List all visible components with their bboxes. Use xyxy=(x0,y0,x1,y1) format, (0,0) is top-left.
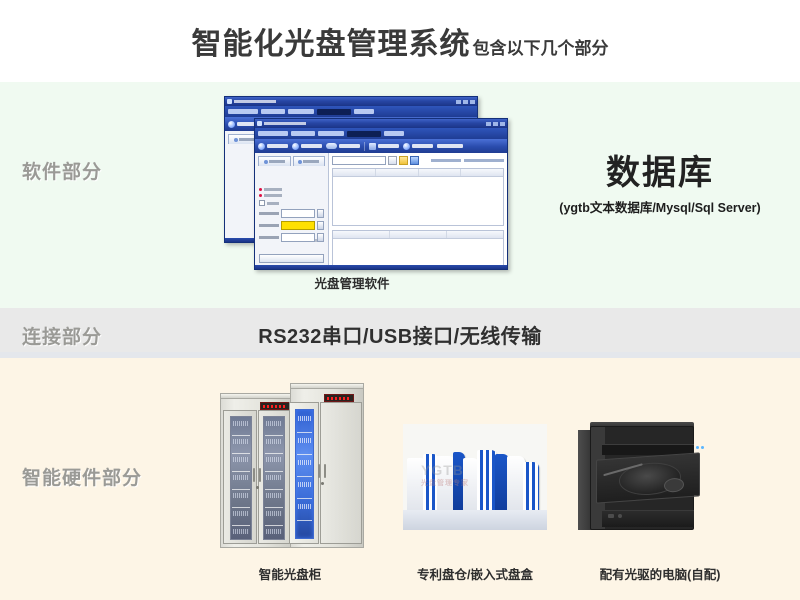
disc-cabinet-photo xyxy=(214,378,366,548)
cabinet-handle[interactable] xyxy=(259,468,261,482)
toolbar-button-label xyxy=(267,144,288,148)
minimize-icon[interactable] xyxy=(486,122,491,126)
menu-item[interactable] xyxy=(258,131,288,136)
search-button[interactable] xyxy=(388,156,397,165)
cabinet-lock-icon[interactable] xyxy=(321,482,324,485)
radio-option[interactable] xyxy=(259,188,324,191)
column-header[interactable] xyxy=(461,169,503,176)
caption-tray: 专利盘仓/嵌入式盘盒 xyxy=(390,564,560,583)
disc-icon xyxy=(326,143,337,149)
status-text xyxy=(431,159,461,162)
toolbar-button-label xyxy=(339,144,360,148)
database-block: 数据库 (ygtb文本数据库/Mysql/Sql Server) xyxy=(524,156,796,216)
search-input[interactable] xyxy=(332,156,386,165)
arrow-left-icon xyxy=(228,121,235,128)
highlighted-input[interactable] xyxy=(281,221,315,230)
maximize-icon[interactable] xyxy=(463,100,468,104)
checkbox-label xyxy=(267,202,279,205)
window-title-text xyxy=(234,100,276,103)
optical-drive-tray[interactable] xyxy=(596,452,700,503)
menu-item[interactable] xyxy=(261,109,285,114)
window-controls[interactable] xyxy=(486,122,505,126)
column-header[interactable] xyxy=(447,231,503,238)
arrow-right-icon xyxy=(292,143,299,150)
toolbar-button-disc[interactable] xyxy=(326,143,360,149)
menu-item[interactable] xyxy=(384,131,404,136)
pc-status-leds xyxy=(696,446,704,449)
refresh-button[interactable] xyxy=(410,156,419,165)
maximize-icon[interactable] xyxy=(493,122,498,126)
page-title-sub: 包含以下几个部分 xyxy=(473,34,609,59)
radio-icon[interactable] xyxy=(259,188,262,191)
minimize-icon[interactable] xyxy=(456,100,461,104)
form-fields[interactable] xyxy=(259,188,324,245)
tab-disc-list[interactable] xyxy=(293,156,326,166)
tab-label xyxy=(239,138,255,141)
window-toolbar[interactable] xyxy=(255,139,508,154)
page-title-main: 智能化光盘管理系统 xyxy=(192,19,471,63)
cabinet-glass-right xyxy=(263,416,285,540)
pc-with-optical-drive-photo xyxy=(578,422,710,534)
status-text xyxy=(464,159,504,162)
toolbar-button-export[interactable] xyxy=(292,143,322,150)
tab-icon xyxy=(234,138,238,142)
browse-button[interactable] xyxy=(317,233,324,242)
window-titlebar xyxy=(225,97,477,106)
window-title-text xyxy=(264,122,306,125)
grid-rows[interactable] xyxy=(333,239,503,270)
menu-item[interactable] xyxy=(354,109,374,114)
text-input[interactable] xyxy=(281,233,315,242)
menu-item[interactable] xyxy=(228,109,258,114)
tray-base xyxy=(403,510,547,530)
menu-item[interactable] xyxy=(288,109,314,114)
toolbar-separator xyxy=(364,142,365,151)
search-icon xyxy=(403,143,410,150)
caption-software: 光盘管理软件 xyxy=(252,273,452,292)
toolbar-button-import[interactable] xyxy=(258,143,288,150)
pc-front-panel xyxy=(602,510,694,527)
led-display-icon xyxy=(260,402,290,410)
tab-icon xyxy=(264,160,268,164)
watermark-text: YGTB xyxy=(421,462,464,478)
app-icon xyxy=(227,99,232,104)
cabinet-door-closed xyxy=(320,402,362,544)
column-header[interactable] xyxy=(333,169,376,176)
form-row-1[interactable] xyxy=(259,209,324,218)
app-window-front[interactable] xyxy=(254,118,508,270)
tray-stack: YGTB 光盘管理专家 xyxy=(403,424,547,530)
cabinet-top xyxy=(220,393,296,399)
column-header[interactable] xyxy=(376,169,419,176)
menu-item-active[interactable] xyxy=(347,131,381,137)
gear-icon xyxy=(369,143,376,150)
browse-button[interactable] xyxy=(317,221,324,230)
app-icon xyxy=(257,121,262,126)
window-titlebar xyxy=(255,119,507,128)
cabinet-top xyxy=(290,383,364,389)
toolbar-button-help[interactable] xyxy=(437,144,463,148)
caption-cabinet: 智能光盘柜 xyxy=(200,564,380,583)
watermark-subtext: 光盘管理专家 xyxy=(421,478,469,488)
window-menubar[interactable] xyxy=(225,106,478,117)
toolbar-button-label xyxy=(301,144,322,148)
radio-label xyxy=(264,188,282,191)
window-body xyxy=(255,153,507,269)
tab-disc-info[interactable] xyxy=(258,156,291,166)
tab-label xyxy=(269,160,285,163)
watermark: YGTB 光盘管理专家 xyxy=(421,462,469,488)
form-row-3[interactable] xyxy=(259,233,324,242)
page-header: 智能化光盘管理系统 包含以下几个部分 xyxy=(0,0,800,84)
connection-text: RS232串口/USB接口/无线传输 xyxy=(230,320,570,349)
page-title: 智能化光盘管理系统 包含以下几个部分 xyxy=(192,19,609,63)
data-grid-top[interactable] xyxy=(332,168,504,226)
cabinet-door-right xyxy=(258,410,292,544)
arrow-left-icon xyxy=(258,143,265,150)
left-pane xyxy=(255,153,329,269)
field-label xyxy=(259,212,279,215)
data-grid-bottom[interactable] xyxy=(332,230,504,270)
cabinet-handle[interactable] xyxy=(253,468,255,482)
power-button[interactable] xyxy=(608,514,614,518)
menu-item-active[interactable] xyxy=(317,109,351,115)
database-subtitle: (ygtb文本数据库/Mysql/Sql Server) xyxy=(524,197,796,216)
menu-item[interactable] xyxy=(318,131,344,136)
toolbar-button-label xyxy=(412,144,433,148)
cabinet-handle[interactable] xyxy=(324,464,326,478)
field-label xyxy=(259,224,279,227)
row-label-software: 软件部分 xyxy=(22,157,102,184)
close-icon[interactable] xyxy=(500,122,505,126)
poster-root: 智能化光盘管理系统 包含以下几个部分 软件部分 连接部分 智能硬件部分 xyxy=(0,0,800,600)
row-label-connection: 连接部分 xyxy=(22,322,102,349)
filter-button[interactable] xyxy=(399,156,408,165)
reset-button[interactable] xyxy=(618,514,622,518)
submit-button[interactable] xyxy=(259,254,324,263)
checkbox-option[interactable] xyxy=(259,200,324,206)
status-info xyxy=(431,159,504,162)
cabinet-handle[interactable] xyxy=(318,464,320,478)
field-label xyxy=(259,236,279,239)
browse-button[interactable] xyxy=(317,209,324,218)
column-header[interactable] xyxy=(419,169,462,176)
cabinet-door-left xyxy=(223,410,257,544)
cabinet-lock-icon[interactable] xyxy=(256,486,259,489)
toolbar-button-label xyxy=(378,144,399,148)
activity-led-icon xyxy=(701,446,704,449)
right-pane xyxy=(329,153,507,269)
text-input[interactable] xyxy=(281,209,315,218)
window-controls[interactable] xyxy=(456,100,475,104)
led-display-icon xyxy=(324,394,354,402)
power-led-icon xyxy=(696,446,699,449)
software-screenshots xyxy=(224,96,520,268)
toolbar-button-label xyxy=(437,144,463,148)
disc-hub xyxy=(664,477,684,492)
form-row-2[interactable] xyxy=(259,221,324,230)
cabinet-door-open xyxy=(289,402,319,544)
tab-icon xyxy=(298,160,302,164)
column-header[interactable] xyxy=(390,231,447,238)
toolbar-button-search[interactable] xyxy=(403,143,433,150)
window-menubar[interactable] xyxy=(255,128,508,139)
search-bar[interactable] xyxy=(332,156,504,165)
tab-label xyxy=(303,160,319,163)
disc-tray-photo: YGTB 光盘管理专家 xyxy=(403,424,547,530)
tray-item xyxy=(523,462,539,516)
grid-rows[interactable] xyxy=(333,177,503,225)
radio-icon[interactable] xyxy=(259,194,262,197)
radio-label xyxy=(264,194,282,197)
caption-pc: 配有光驱的电脑(自配) xyxy=(560,564,760,583)
close-icon[interactable] xyxy=(470,100,475,104)
checkbox-icon[interactable] xyxy=(259,200,265,206)
cabinet-glass-lit xyxy=(295,409,314,539)
database-title: 数据库 xyxy=(524,156,796,192)
toolbar-button-settings[interactable] xyxy=(369,143,399,150)
cabinet-left xyxy=(220,398,296,548)
grid-header xyxy=(333,231,503,239)
cabinet-glass-left xyxy=(230,416,252,540)
row-label-hardware: 智能硬件部分 xyxy=(22,463,142,490)
menu-item[interactable] xyxy=(291,131,315,136)
cabinet-right xyxy=(290,388,364,548)
radio-option[interactable] xyxy=(259,194,324,197)
column-header[interactable] xyxy=(333,231,390,238)
pane-tabs[interactable] xyxy=(258,156,325,166)
grid-header xyxy=(333,169,503,177)
